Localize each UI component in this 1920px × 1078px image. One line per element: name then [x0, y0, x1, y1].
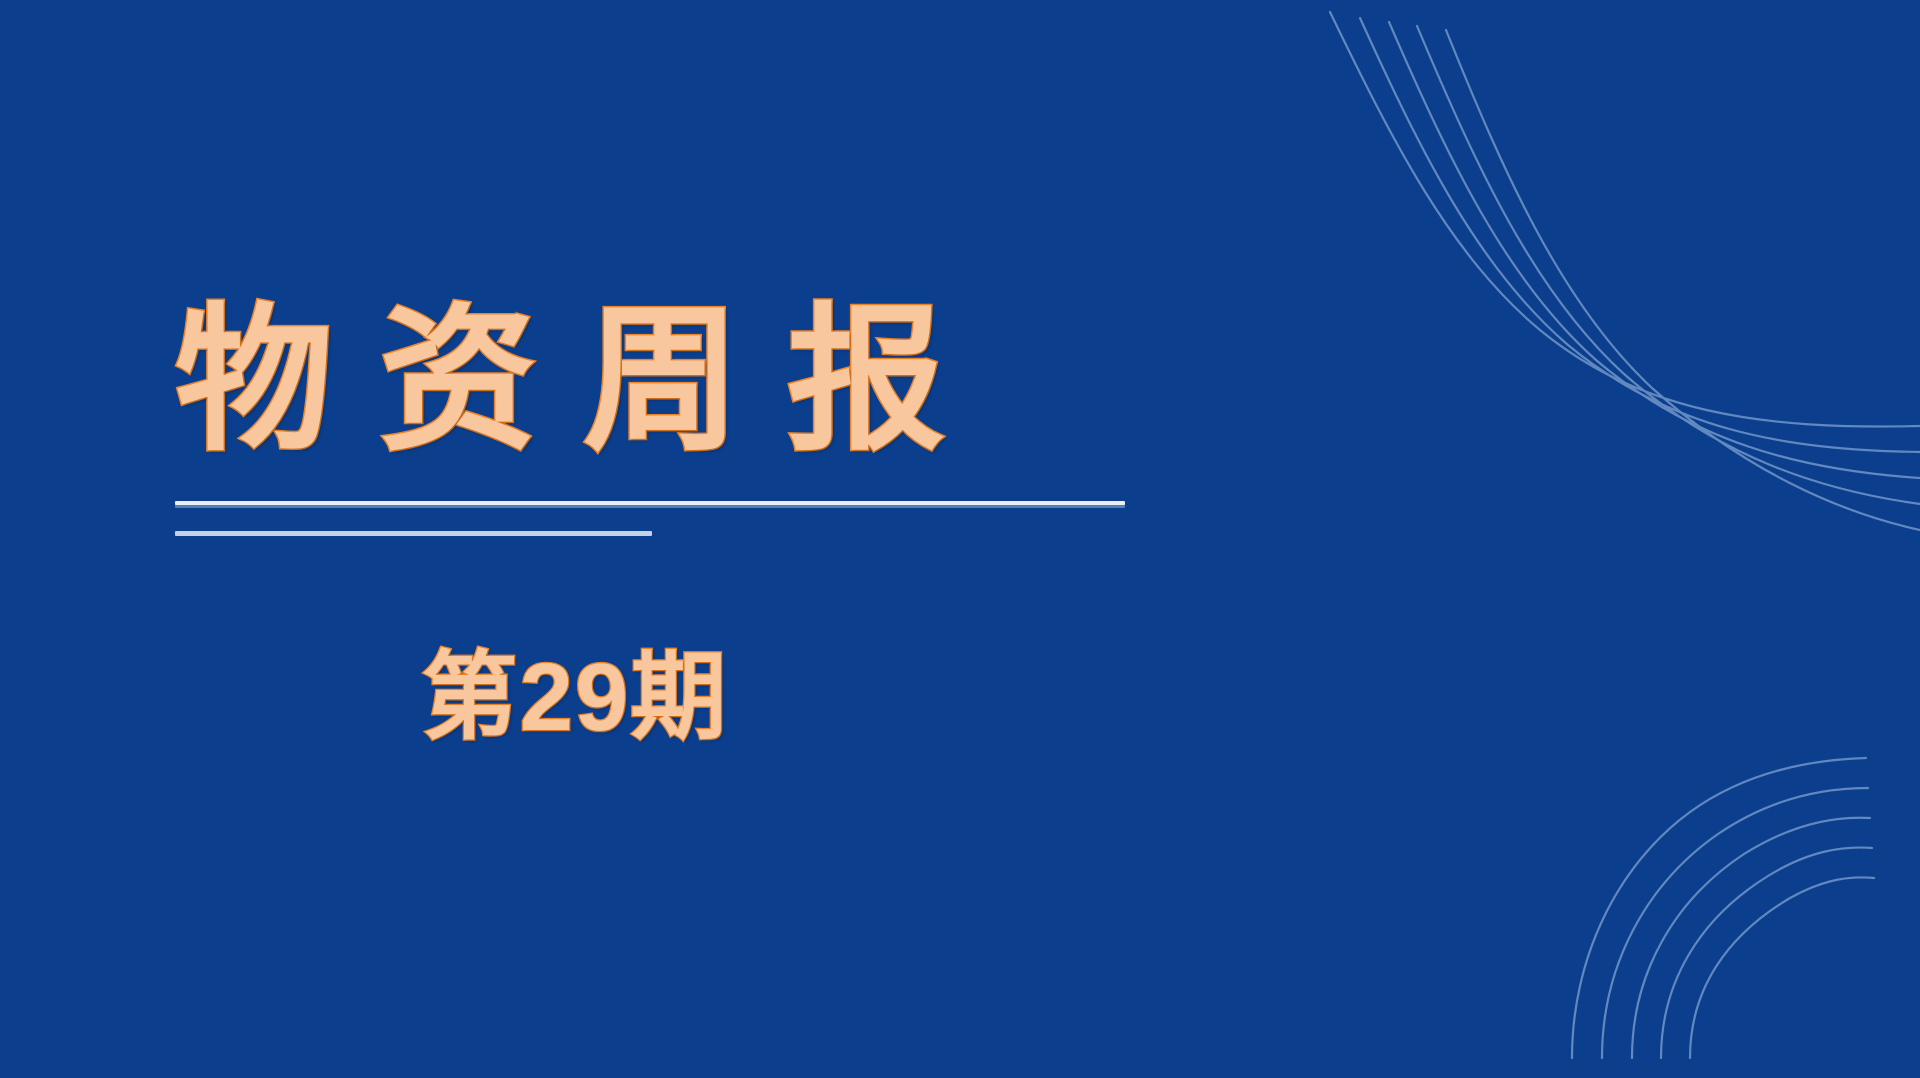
deco-curve-tr-2 — [1360, 18, 1920, 452]
subtitle-block: 第29期 — [0, 645, 1150, 751]
deco-curve-br-5 — [1690, 877, 1874, 1058]
deco-curve-br-4 — [1661, 848, 1872, 1058]
deco-curve-tr-1 — [1330, 12, 1920, 427]
flowing-lines-bottom-right-decoration — [0, 0, 1920, 1078]
deco-curve-tr-4 — [1417, 26, 1920, 504]
page-title: 物资周报 — [175, 288, 1175, 474]
deco-curve-br-3 — [1632, 818, 1870, 1058]
title-underline-primary — [175, 501, 1125, 505]
deco-curve-br-2 — [1602, 788, 1868, 1058]
deco-curve-tr-3 — [1389, 22, 1920, 478]
title-block: 物资周报 — [175, 288, 1175, 474]
flowing-lines-top-right-decoration — [0, 0, 1920, 1078]
deco-curve-br-1 — [1572, 758, 1866, 1058]
title-slide: 物资周报 第29期 — [0, 0, 1920, 1078]
title-underline-secondary — [175, 531, 652, 536]
issue-label: 第29期 — [422, 645, 729, 751]
deco-curve-tr-5 — [1446, 30, 1920, 530]
